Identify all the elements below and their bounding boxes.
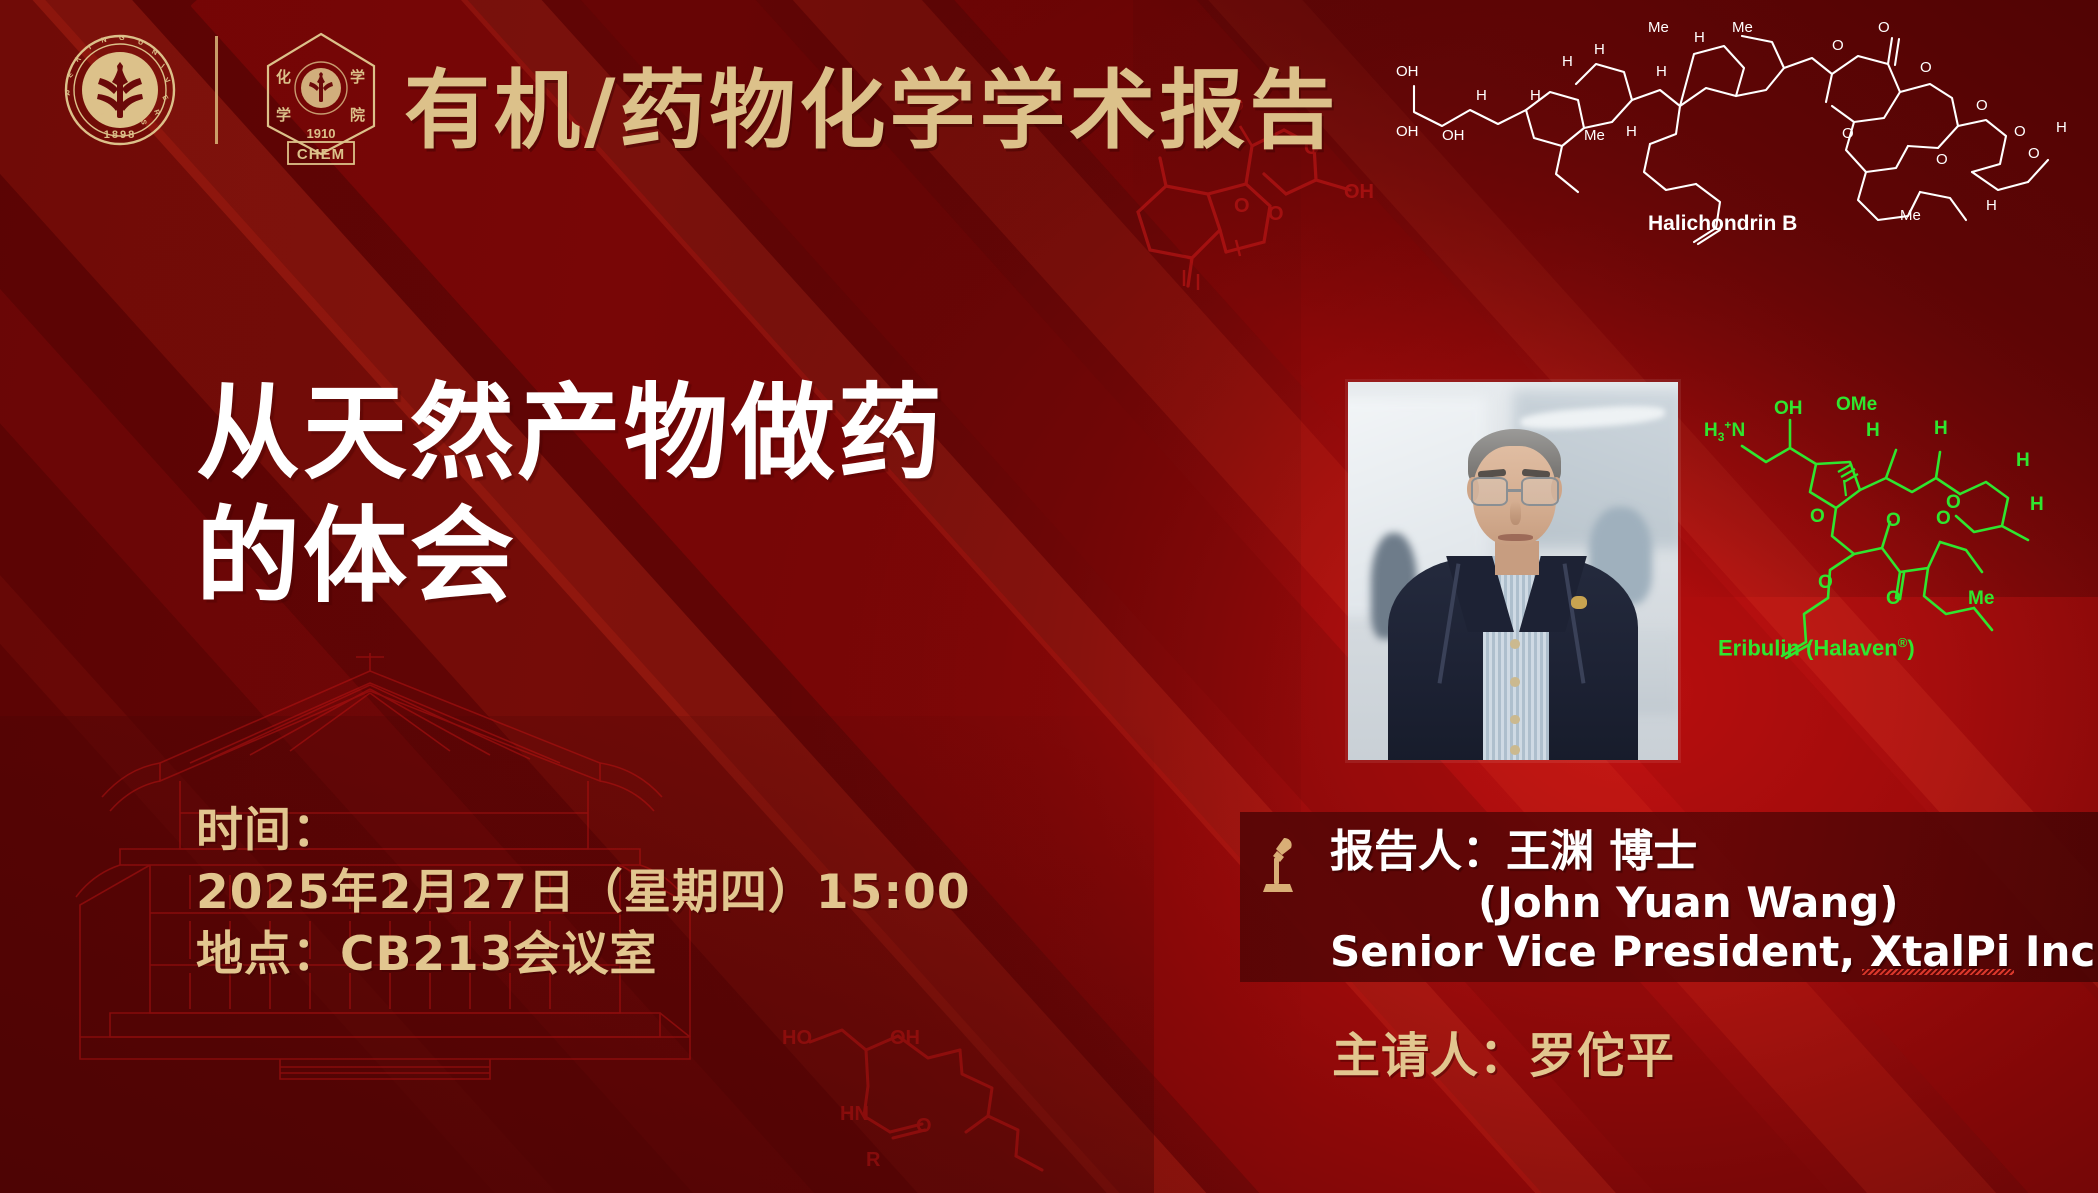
svg-text:G: G [119,33,125,42]
chem-logo-char-1: 化 [276,68,291,86]
svg-text:Me: Me [1900,207,1921,224]
pku-chemistry-college-logo: 化 学 学 院 1910 CHEM [262,30,380,158]
peking-university-seal-logo: P E K I N G U N I V E R S I T Y 1898 [64,34,176,146]
chem-logo-char-4: 院 [350,106,365,124]
svg-text:H3+N: H3+N [1704,418,1745,444]
eribulin-label: Eribulin (Halaven®) [1718,635,1915,661]
svg-text:HN: HN [840,1103,869,1125]
speaker-title-affiliation: Senior Vice President, XtalPi Inc. [1330,927,2090,977]
page-title: 有机/药物化学学术报告 [404,40,1339,165]
svg-text:R: R [152,108,162,116]
svg-text:O: O [1886,588,1901,609]
spellcheck-squiggle [1862,969,2014,975]
svg-text:O: O [1234,195,1250,217]
watermark-molecule-ceramide: HO OH HN O R [780,1020,1110,1190]
svg-text:Me: Me [1968,588,1994,609]
svg-text:H: H [2016,450,2030,471]
svg-text:I: I [159,62,166,70]
pku-seal-year: 1898 [104,129,136,141]
svg-text:HO: HO [782,1027,812,1049]
seminar-title-line-2: 的体会 [196,495,1056,618]
svg-text:P: P [63,88,73,97]
logo-divider [215,36,218,144]
event-details: 时间： 2025年2月27日（星期四）15:00 地点：CB213会议室 [196,800,971,986]
speaker-details: 报告人：王渊 博士 (John Yuan Wang) Senior Vice P… [1330,826,2090,977]
svg-text:E: E [160,93,170,102]
svg-text:O: O [1886,510,1901,531]
chem-logo-label: CHEM [297,146,345,163]
speaker-portrait [1348,382,1678,760]
chem-logo-year: 1910 [307,126,336,141]
svg-text:S: S [139,119,148,125]
registered-mark: ® [1898,635,1908,650]
svg-text:O: O [1810,506,1825,527]
time-value: 2025年2月27日（星期四）15:00 [196,862,971,924]
speaker-name-line: 报告人：王渊 博士 [1330,826,2090,878]
chem-logo-char-3: 学 [276,106,291,124]
svg-text:O: O [1268,203,1284,225]
host-line: 主请人：罗佗平 [1332,1016,1675,1086]
speaker-name-english: (John Yuan Wang) [1330,878,2090,928]
svg-text:H: H [1934,418,1948,439]
svg-text:OMe: OMe [1836,394,1877,415]
svg-text:OH: OH [1344,181,1374,203]
svg-text:O: O [916,1115,932,1137]
place-value: 地点：CB213会议室 [196,924,971,986]
seminar-title-line-1: 从天然产物做药 [196,372,1056,495]
time-label: 时间： [196,800,971,862]
lectern-icon [1262,836,1302,894]
eribulin-label-main: Eribulin (Halaven [1718,635,1898,660]
halichondrin-b-label: Halichondrin B [1648,212,1797,236]
svg-text:N: N [100,35,107,45]
svg-text:H: H [1986,197,1997,214]
svg-text:U: U [137,37,144,47]
poster-header: P E K I N G U N I V E R S I T Y 1898 [0,0,2098,172]
chem-logo-char-2: 学 [350,68,365,86]
seminar-title: 从天然产物做药 的体会 [196,372,1056,617]
seminar-poster: O O O OH O [0,0,2098,1193]
svg-text:H: H [1866,420,1880,441]
svg-text:R: R [866,1149,881,1171]
svg-text:O: O [1946,492,1961,513]
svg-text:H: H [2030,494,2044,515]
eribulin-label-tail: ) [1907,635,1914,660]
svg-text:OH: OH [890,1027,920,1049]
eribulin-structure: H3+N OH OMe H H H H O O O O O Me O [1700,390,2090,660]
svg-text:O: O [1818,572,1833,593]
svg-text:OH: OH [1774,398,1803,419]
